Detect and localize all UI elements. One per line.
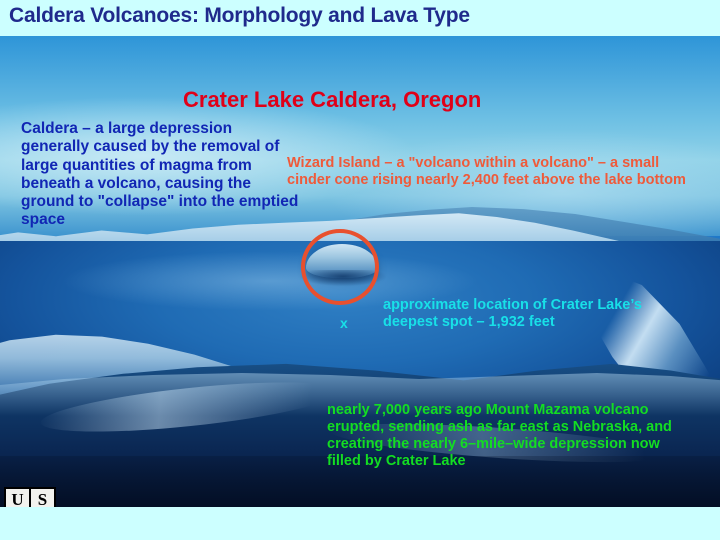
annotation-mazama-eruption: nearly 7,000 years ago Mount Mazama volc… — [327, 402, 697, 470]
slide-header: Caldera Volcanoes: Morphology and Lava T… — [0, 0, 720, 36]
slide-subtitle: Crater Lake Caldera, Oregon — [183, 87, 481, 113]
usgs-logo: U S G S — [4, 487, 56, 507]
crater-lake-photo: Crater Lake Caldera, Oregon Caldera – a … — [0, 36, 720, 507]
wizard-island-highlight-circle — [301, 229, 379, 305]
footer-band — [0, 507, 720, 540]
deepest-spot-marker-icon: x — [340, 315, 348, 332]
annotation-caldera-definition: Caldera – a large depression generally c… — [21, 120, 301, 230]
usgs-logo-letter-s1: S — [31, 489, 54, 507]
annotation-wizard-island: Wizard Island – a "volcano within a volc… — [287, 155, 702, 189]
usgs-logo-letter-u: U — [6, 489, 29, 507]
slide: Caldera Volcanoes: Morphology and Lava T… — [0, 0, 720, 540]
annotation-deepest-spot: approximate location of Crater Lake’s de… — [383, 297, 683, 331]
page-title: Caldera Volcanoes: Morphology and Lava T… — [9, 4, 470, 28]
